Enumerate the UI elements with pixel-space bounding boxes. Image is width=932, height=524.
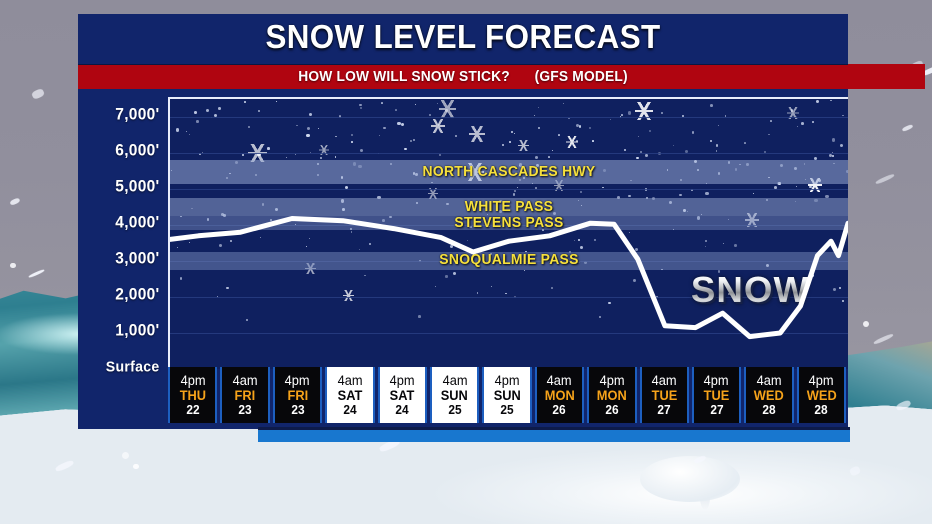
title-bar: SNOW LEVEL FORECAST (78, 14, 848, 65)
timeline-time: 4pm (704, 373, 729, 388)
timeline-time: 4pm (599, 373, 624, 388)
plot-area: NORTH CASCADES HWYWHITE PASSSTEVENS PASS… (168, 97, 848, 369)
timeline-cell[interactable]: 4pmMON26 (587, 367, 636, 423)
timeline-time: 4am (547, 373, 572, 388)
timeline-cell[interactable]: 4amWED28 (744, 367, 793, 423)
timeline-day: TUE (704, 388, 730, 403)
subtitle-model: (GFS MODEL) (535, 69, 628, 85)
timeline-time: 4am (652, 373, 677, 388)
timeline-day: THU (180, 388, 206, 403)
timeline-cell[interactable]: 4pmTUE27 (692, 367, 741, 423)
page-title: SNOW LEVEL FORECAST (97, 18, 829, 56)
chart-container: Surface1,000'2,000'3,000'4,000'5,000'6,0… (78, 89, 848, 429)
snow-level-line-chart (170, 99, 848, 369)
timeline-cell[interactable]: 4pmSAT24 (378, 367, 427, 423)
timeline-time: 4am (233, 373, 258, 388)
y-axis-tick: 5,000' (81, 178, 160, 197)
timeline-day: SUN (493, 388, 520, 403)
timeline-day: SAT (338, 388, 363, 403)
forecast-graphic-panel: SNOW LEVEL FORECAST HOW LOW WILL SNOW ST… (78, 14, 848, 429)
snow-dimple (700, 484, 710, 510)
timeline-time: 4pm (180, 373, 205, 388)
y-axis: Surface1,000'2,000'3,000'4,000'5,000'6,0… (78, 89, 168, 389)
timeline-cell[interactable]: 4amSAT24 (325, 367, 374, 423)
timeline-date: 22 (186, 403, 199, 417)
timeline-date: 28 (762, 403, 775, 417)
subtitle-question: HOW LOW WILL SNOW STICK? (298, 69, 510, 85)
falling-snowflake (133, 464, 139, 470)
timeline-time: 4pm (809, 373, 834, 388)
timeline-cell[interactable]: 4pmWED28 (797, 367, 846, 423)
timeline-cell[interactable]: 4amMON26 (535, 367, 584, 423)
timeline-day: MON (544, 388, 574, 403)
timeline-cell[interactable]: 4amSUN25 (430, 367, 479, 423)
y-axis-tick: 3,000' (81, 250, 160, 269)
y-axis-tick: 2,000' (81, 286, 160, 305)
timeline-time: 4am (442, 373, 467, 388)
timeline-date: 24 (343, 403, 356, 417)
timeline-date: 25 (448, 403, 461, 417)
timeline-day: SAT (390, 388, 415, 403)
y-axis-tick: 1,000' (81, 322, 160, 341)
timeline-day: MON (597, 388, 627, 403)
timeline-date: 27 (658, 403, 671, 417)
timeline-date: 27 (710, 403, 723, 417)
subtitle: HOW LOW WILL SNOW STICK? (GFS MODEL) (97, 66, 829, 88)
falling-snowflake (10, 263, 15, 268)
timeline-date: 26 (553, 403, 566, 417)
timeline-date: 26 (605, 403, 618, 417)
falling-snowflake (122, 452, 129, 459)
y-axis-tick: 6,000' (81, 142, 160, 161)
timeline-day: WED (806, 388, 836, 403)
timeline-cell[interactable]: 4pmFRI23 (273, 367, 322, 423)
snow-level-line (170, 219, 848, 337)
y-axis-tick: 7,000' (81, 106, 160, 125)
timeline-day: TUE (651, 388, 677, 403)
timeline-day: FRI (235, 388, 256, 403)
timeline-day: FRI (287, 388, 308, 403)
plot-inner: NORTH CASCADES HWYWHITE PASSSTEVENS PASS… (170, 99, 848, 369)
timeline-cell[interactable]: 4pmTHU22 (168, 367, 217, 423)
timeline-time: 4pm (285, 373, 310, 388)
y-axis-tick: 4,000' (81, 214, 160, 233)
timeline-cell[interactable]: 4pmSUN25 (482, 367, 531, 423)
timeline-time: 4pm (390, 373, 415, 388)
x-axis-timeline: 4pmTHU224amFRI234pmFRI234amSAT244pmSAT24… (168, 367, 846, 423)
timeline-date: 23 (291, 403, 304, 417)
timeline-day: WED (754, 388, 784, 403)
bottom-accent-bar (258, 430, 850, 442)
timeline-time: 4pm (495, 373, 520, 388)
timeline-time: 4am (337, 373, 362, 388)
timeline-date: 24 (396, 403, 409, 417)
timeline-day: SUN (441, 388, 468, 403)
timeline-time: 4am (757, 373, 782, 388)
timeline-cell[interactable]: 4amFRI23 (220, 367, 269, 423)
timeline-date: 23 (238, 403, 251, 417)
falling-snowflake (863, 321, 869, 327)
timeline-date: 25 (500, 403, 513, 417)
y-axis-tick: Surface (81, 359, 160, 376)
timeline-cell[interactable]: 4amTUE27 (640, 367, 689, 423)
timeline-date: 28 (815, 403, 828, 417)
